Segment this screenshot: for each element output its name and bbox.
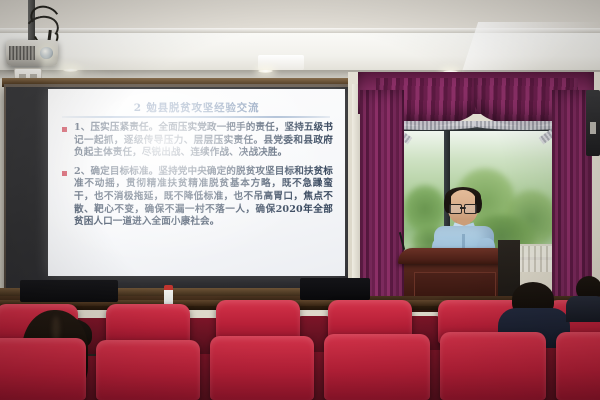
water-bottle-cap [164, 285, 173, 290]
auditorium-seat [0, 338, 86, 400]
wall-jamb [352, 84, 360, 296]
auditorium-seat [440, 332, 546, 400]
projector-vent [9, 46, 35, 60]
monitor-icon [300, 278, 370, 300]
list-item: 1、压实压紧责任。全面压实党政一把手的责任，坚持五级书记一起抓，逐级传导压力、层… [61, 122, 333, 160]
slide-title: 2 勉县脱贫攻坚经验交流 [48, 100, 345, 115]
bullet-marker-icon [62, 171, 67, 176]
slide-title-divider [62, 116, 330, 118]
auditorium-seat [556, 332, 600, 400]
auditorium-seat [210, 336, 314, 400]
audience-member-body [566, 296, 600, 322]
recessed-ceiling-panel-icon [258, 55, 304, 70]
conference-room-photo: 2 勉县脱贫攻坚经验交流 1、压实压紧责任。全面压实党政一把手的责任，坚持五级书… [0, 0, 600, 400]
eyeglasses-bridge [460, 207, 466, 209]
projection-screen: 2 勉县脱贫攻坚经验交流 1、压实压紧责任。全面压实党政一把手的责任，坚持五级书… [48, 89, 345, 276]
monitor-icon [20, 280, 118, 302]
bullet-marker-icon [62, 127, 67, 132]
auditorium-seat [324, 334, 430, 400]
eyeglasses-icon [449, 204, 477, 213]
slide-bullet-text: 2、确定目标标准。坚持党中央确定的脱贫攻坚目标和扶贫标准不动摇，贯彻精准扶贫精准… [74, 166, 333, 229]
list-item: 2、确定目标标准。坚持党中央确定的脱贫攻坚目标和扶贫标准不动摇，贯彻精准扶贫精准… [61, 166, 333, 229]
slide-bullet-list: 1、压实压紧责任。全面压实党政一把手的责任，坚持五级书记一起抓，逐级传导压力、层… [61, 122, 333, 235]
podium-top [398, 248, 510, 264]
wall-unit-indicator [590, 122, 596, 134]
ceiling-light-sheen [462, 22, 600, 72]
slide-bullet-text: 1、压实压紧责任。全面压实党政一把手的责任，坚持五级书记一起抓，逐级传导压力、层… [74, 122, 333, 160]
auditorium-seat [96, 340, 200, 400]
downlight-icon [258, 69, 273, 73]
